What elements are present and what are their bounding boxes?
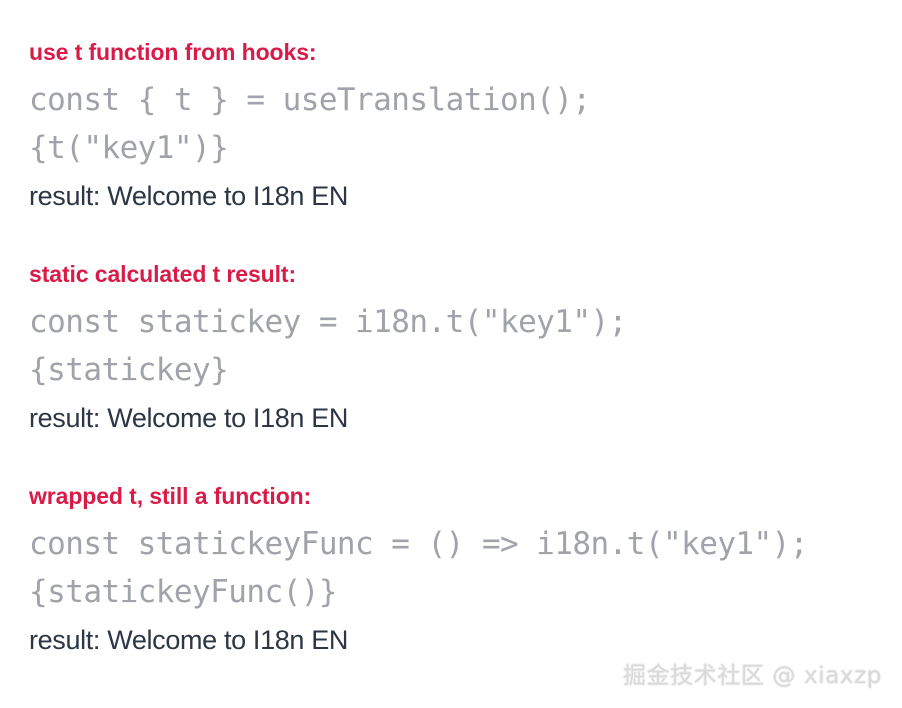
page-content: use t function from hooks: const { t } =… <box>0 0 902 708</box>
watermark: 掘金技术社区 @ xiaxzp <box>623 662 882 690</box>
code-line: {t("key1")} <box>29 124 902 172</box>
result-line: result: Welcome to I18n EN <box>29 172 902 220</box>
section-heading: use t function from hooks: <box>29 28 902 76</box>
result-line: result: Welcome to I18n EN <box>29 616 902 664</box>
section-heading: static calculated t result: <box>29 250 902 298</box>
section-wrapped-t: wrapped t, still a function: const stati… <box>29 472 902 664</box>
code-line: const { t } = useTranslation(); <box>29 76 902 124</box>
code-line: const statickeyFunc = () => i18n.t("key1… <box>29 520 902 568</box>
section-static-calculated: static calculated t result: const static… <box>29 250 902 442</box>
section-heading: wrapped t, still a function: <box>29 472 902 520</box>
code-line: {statickey} <box>29 346 902 394</box>
result-line: result: Welcome to I18n EN <box>29 394 902 442</box>
section-use-t-hook: use t function from hooks: const { t } =… <box>29 28 902 220</box>
code-line: const statickey = i18n.t("key1"); <box>29 298 902 346</box>
code-line: {statickeyFunc()} <box>29 568 902 616</box>
